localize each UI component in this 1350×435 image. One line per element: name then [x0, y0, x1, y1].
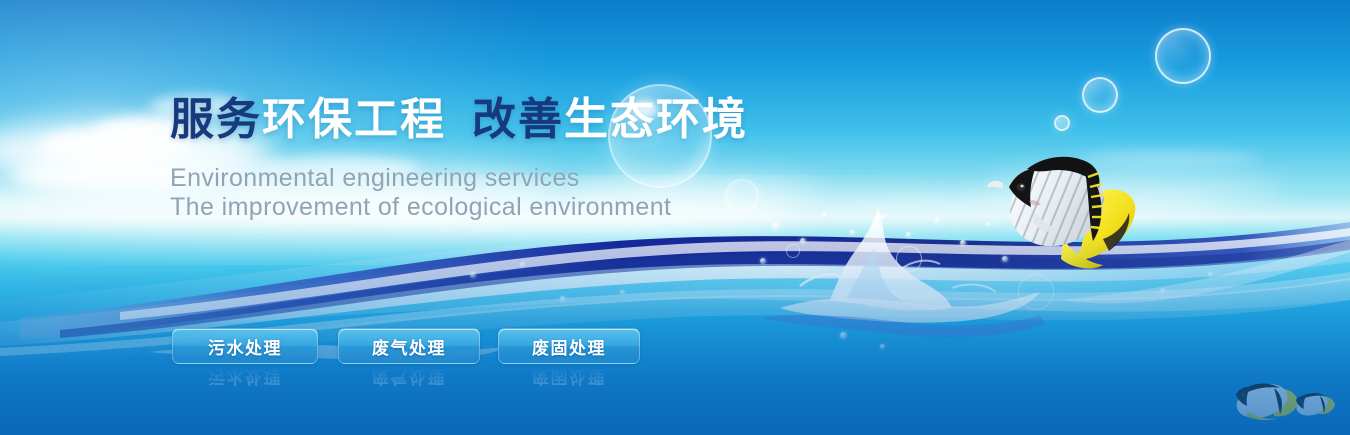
headline-phrase2-dark: 改善	[472, 95, 564, 144]
button-wastewater-treatment-label: 污水处理	[208, 334, 282, 359]
button-waste-gas-treatment[interactable]: 废气处理	[338, 328, 480, 364]
bubble-large-headline	[608, 84, 712, 188]
button-wastewater-treatment-reflection: 污水处理	[172, 366, 318, 396]
reflection-label: 废固处理	[532, 366, 606, 391]
button-solid-waste-treatment-label: 废固处理	[532, 334, 606, 359]
subtitle-line-2: The improvement of ecological environmen…	[170, 192, 671, 223]
service-button-row: 污水处理 污水处理 废气处理 废气处理 废固处理 废固处理	[0, 328, 1350, 424]
reflection-label: 污水处理	[208, 366, 282, 391]
bubble-top-right-medium	[1082, 77, 1118, 113]
button-wastewater-treatment[interactable]: 污水处理	[172, 328, 318, 364]
bubble-top-right-large	[1155, 28, 1211, 84]
hero-banner: 服务环保工程改善生态环境 Environmental engineering s…	[0, 0, 1350, 435]
subtitle-line-1: Environmental engineering services	[170, 163, 580, 194]
reflection-label: 废气处理	[372, 366, 446, 391]
headline-phrase1-light: 环保工程	[262, 95, 446, 144]
button-waste-gas-treatment-reflection: 废气处理	[338, 366, 480, 396]
button-solid-waste-treatment-reflection: 废固处理	[498, 366, 640, 396]
button-solid-waste-treatment[interactable]: 废固处理	[498, 328, 640, 364]
headline-phrase1-dark: 服务	[170, 95, 262, 144]
button-waste-gas-treatment-label: 废气处理	[372, 334, 446, 359]
bubble-mid-small	[725, 179, 759, 213]
bubble-top-right-small	[1054, 115, 1070, 131]
